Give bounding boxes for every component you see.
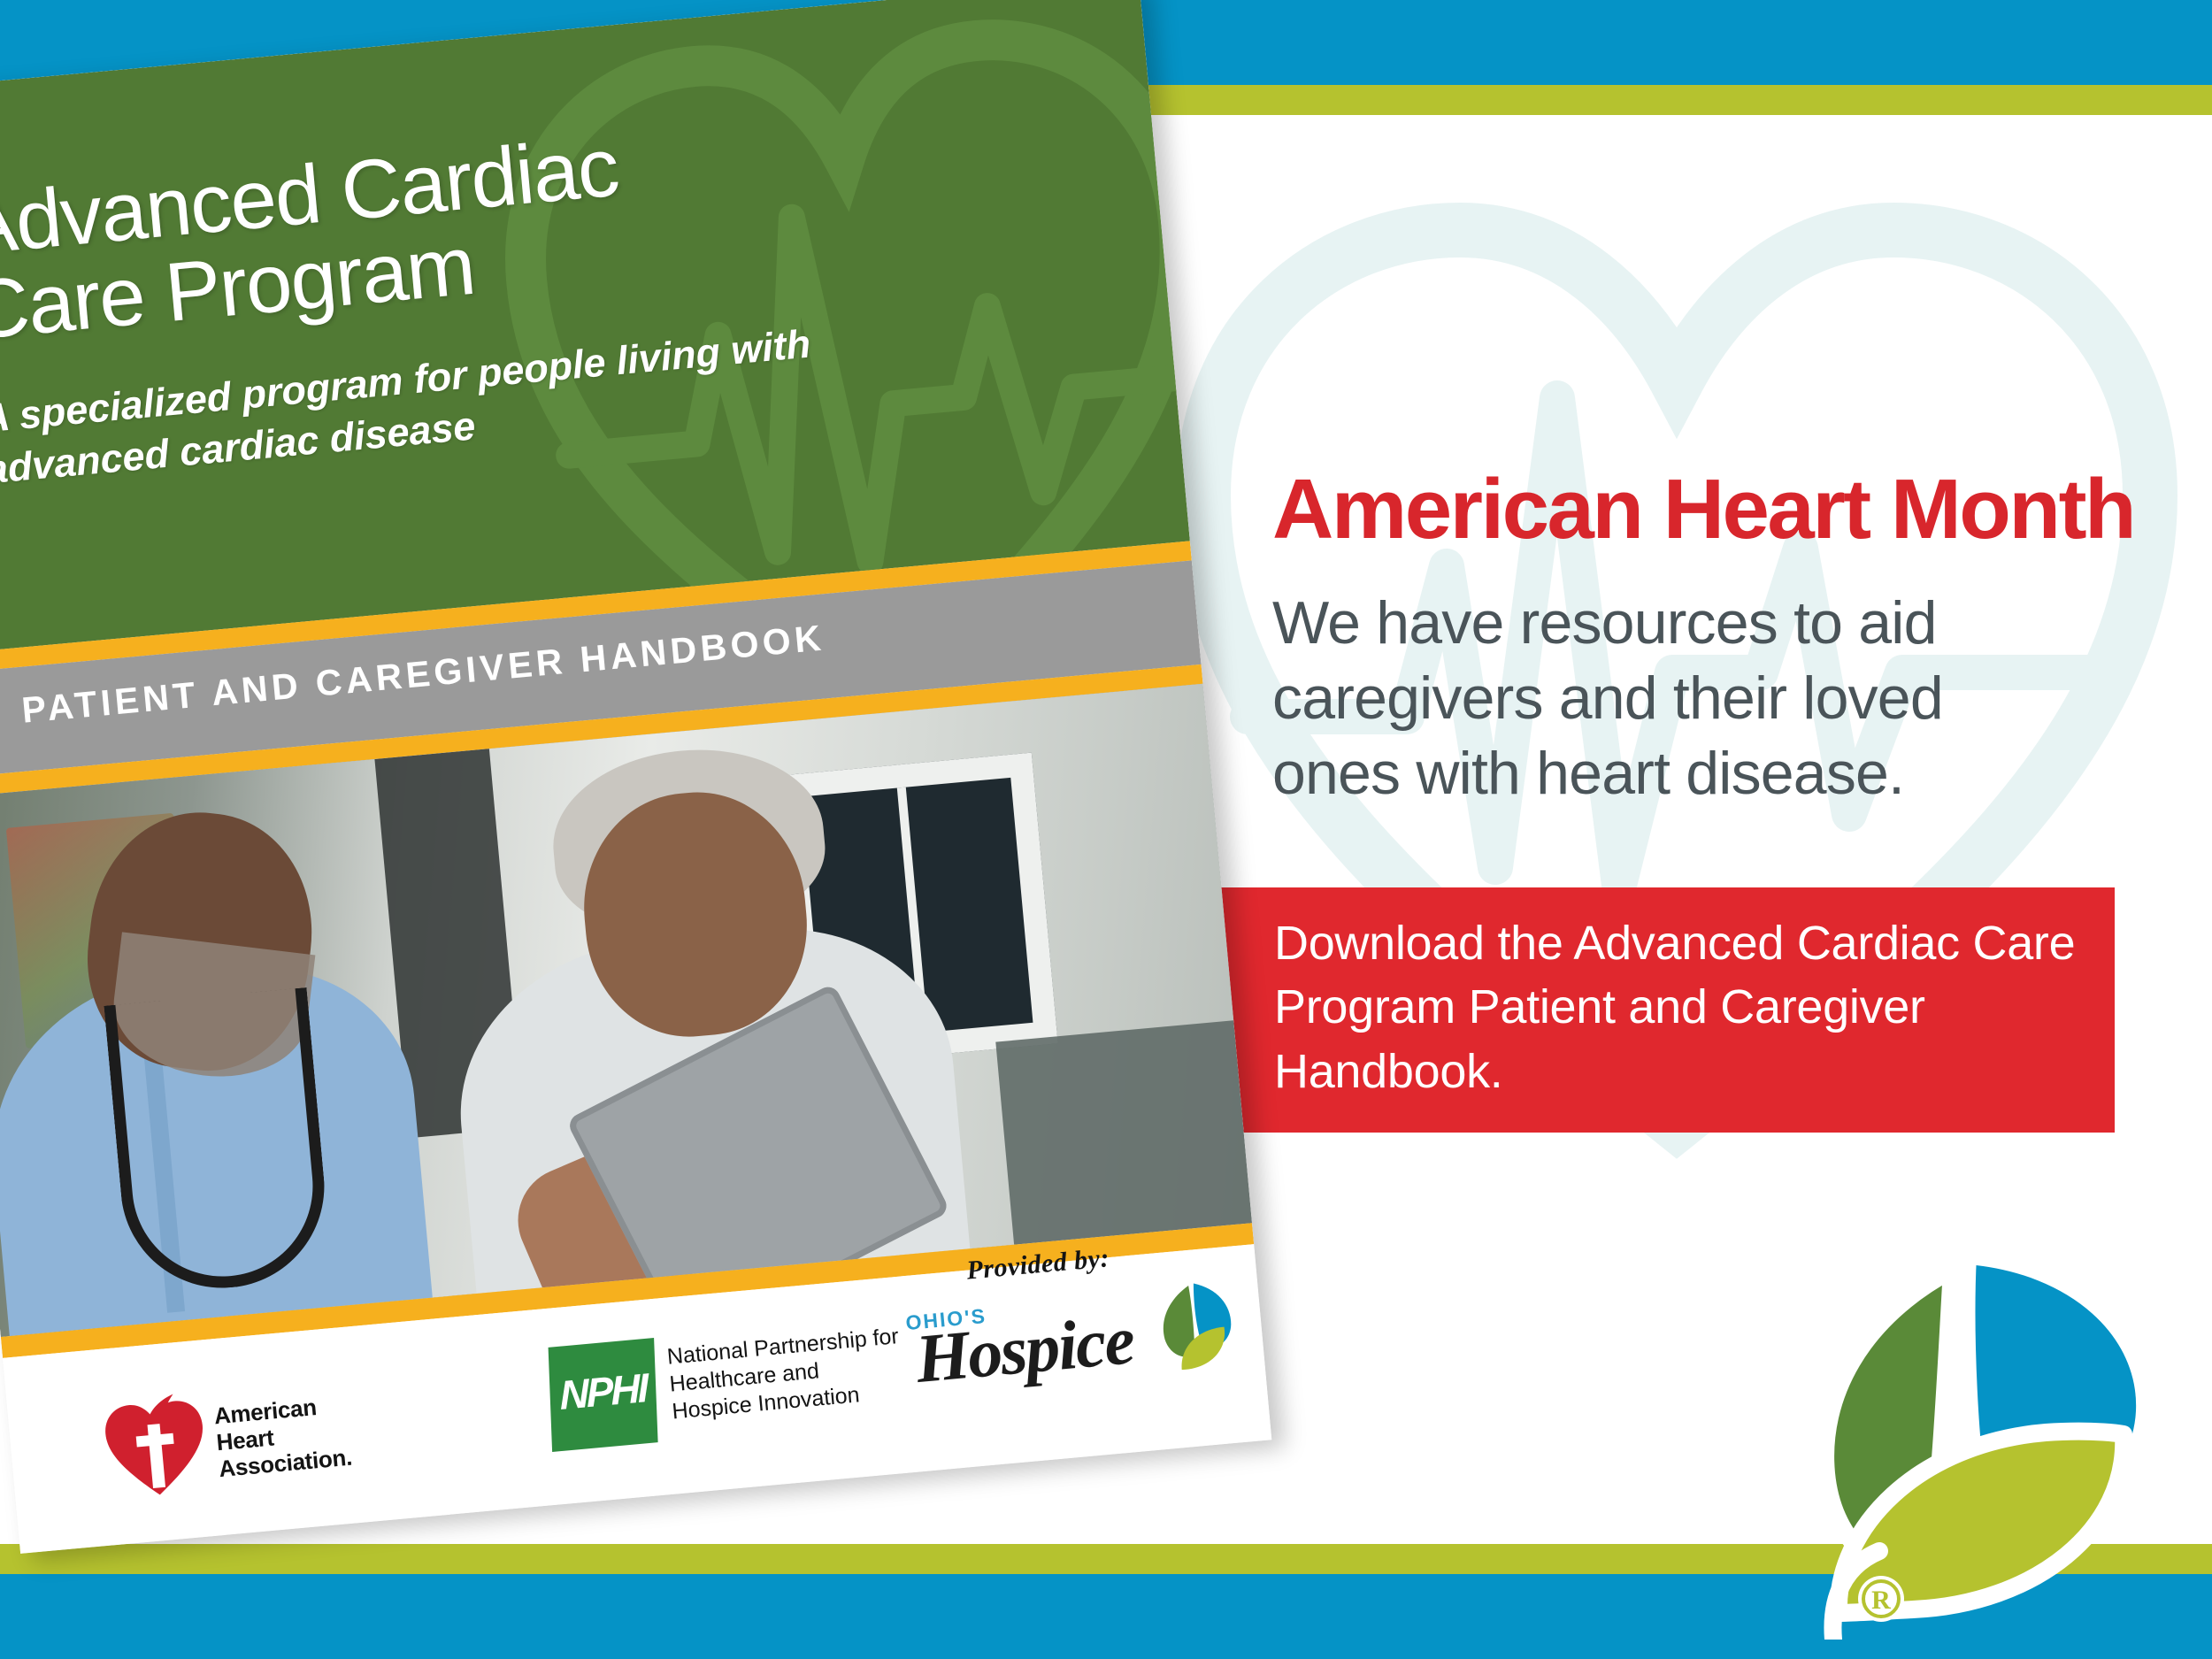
nphi-wordmark: National Partnership for Healthcare and … [666,1323,905,1425]
handbook-cover: Advanced Cardiac Care Program A speciali… [0,0,1271,1554]
nphi-mark: NPHI [549,1338,658,1452]
ohios-hospice-logo: Provided by: OHIO'S Hospice [900,1233,1233,1439]
heart-torch-icon [99,1389,212,1502]
promo-graphic: American Heart Month We have resources t… [0,0,2212,1659]
nphi-logo: NPHI National Partnership for Healthcare… [545,1306,936,1472]
ohios-hospice-leaf-icon: R [1794,1224,2175,1640]
cta-text[interactable]: Download the Advanced Cardiac Care Progr… [1274,911,2097,1103]
aha-wordmark: American Heart Association. [213,1391,354,1483]
subheadline: We have resources to aid caregivers and … [1272,586,2051,811]
leaf-icon [1148,1275,1241,1381]
page-title: American Heart Month [1272,467,2157,552]
registered-mark: R [1858,1576,1904,1622]
american-heart-association-logo: American Heart Association. [98,1365,400,1515]
svg-text:R: R [1871,1586,1891,1615]
nphi-acronym: NPHI [549,1363,657,1420]
photo-sofa [995,1020,1252,1245]
cover-photo [0,684,1252,1337]
